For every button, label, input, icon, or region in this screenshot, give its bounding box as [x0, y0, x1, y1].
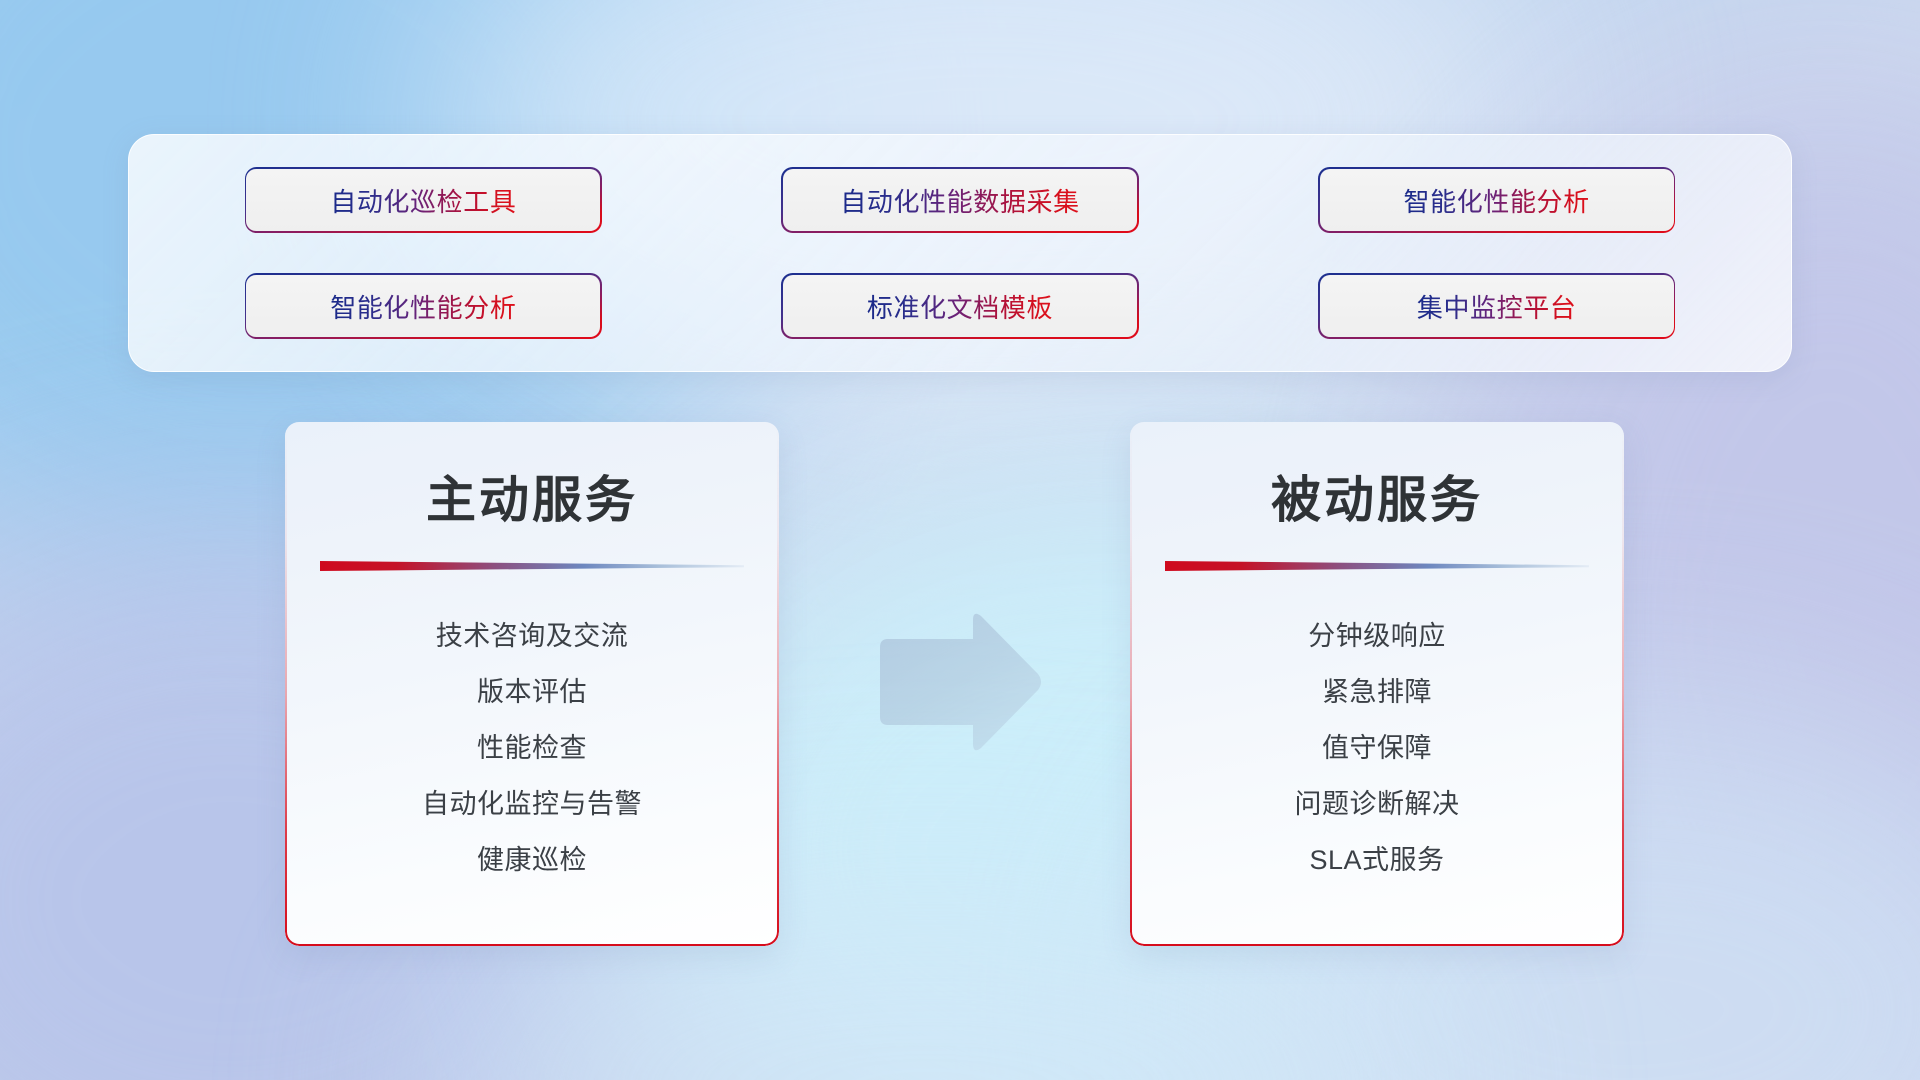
capability-pill[interactable]: 智能化性能分析 — [1320, 169, 1674, 231]
capability-pill-label: 自动化巡检工具 — [330, 182, 516, 219]
card-list-item: 问题诊断解决 — [1130, 776, 1624, 832]
card-list-item: SLA式服务 — [1130, 832, 1624, 888]
capability-pill[interactable]: 标准化文档模板 — [783, 275, 1137, 337]
card-list-item: 紧急排障 — [1130, 664, 1624, 720]
card-divider-wedge — [320, 558, 744, 574]
capability-pill-label: 智能化性能分析 — [1404, 182, 1590, 219]
card-list-item: 值守保障 — [1130, 720, 1624, 776]
service-card-proactive[interactable]: 主动服务 技术咨询及交流 版本评估 性能检查 自动化监控与告警 健康巡检 — [285, 422, 779, 946]
card-list-item: 技术咨询及交流 — [285, 608, 779, 664]
capability-pill-label: 集中监控平台 — [1417, 288, 1577, 325]
card-list-item: 自动化监控与告警 — [285, 776, 779, 832]
capability-panel: 自动化巡检工具 自动化性能数据采集 智能化性能分析 智能化性能分析 标准化文档模… — [128, 134, 1792, 372]
card-list-item: 版本评估 — [285, 664, 779, 720]
infographic-canvas: 主动服务与被动服务 自动化巡检工具 自动化性能数据采集 智能化性能分析 智能化性… — [0, 0, 1920, 1080]
card-title: 主动服务 — [285, 422, 779, 532]
service-card-reactive[interactable]: 被动服务 分钟级响应 紧急排障 值守保障 问题诊断解决 SLA式服务 — [1130, 422, 1624, 946]
card-list-item: 健康巡检 — [285, 832, 779, 888]
capability-pill[interactable]: 自动化巡检工具 — [246, 169, 600, 231]
card-title: 被动服务 — [1130, 422, 1624, 532]
capability-pill[interactable]: 集中监控平台 — [1320, 275, 1674, 337]
capability-pill-label: 标准化文档模板 — [867, 288, 1053, 325]
capability-pill-label: 智能化性能分析 — [330, 288, 516, 325]
capability-pill[interactable]: 自动化性能数据采集 — [783, 169, 1137, 231]
capability-pill[interactable]: 智能化性能分析 — [246, 275, 600, 337]
card-divider-wedge — [1165, 558, 1589, 574]
card-item-list: 技术咨询及交流 版本评估 性能检查 自动化监控与告警 健康巡检 — [285, 574, 779, 888]
flow-arrow-right-icon: 主动服务 → 被动服务 — [872, 608, 1048, 756]
capability-pill-label: 自动化性能数据采集 — [840, 182, 1079, 219]
card-item-list: 分钟级响应 紧急排障 值守保障 问题诊断解决 SLA式服务 — [1130, 574, 1624, 888]
card-list-item: 分钟级响应 — [1130, 608, 1624, 664]
card-list-item: 性能检查 — [285, 720, 779, 776]
